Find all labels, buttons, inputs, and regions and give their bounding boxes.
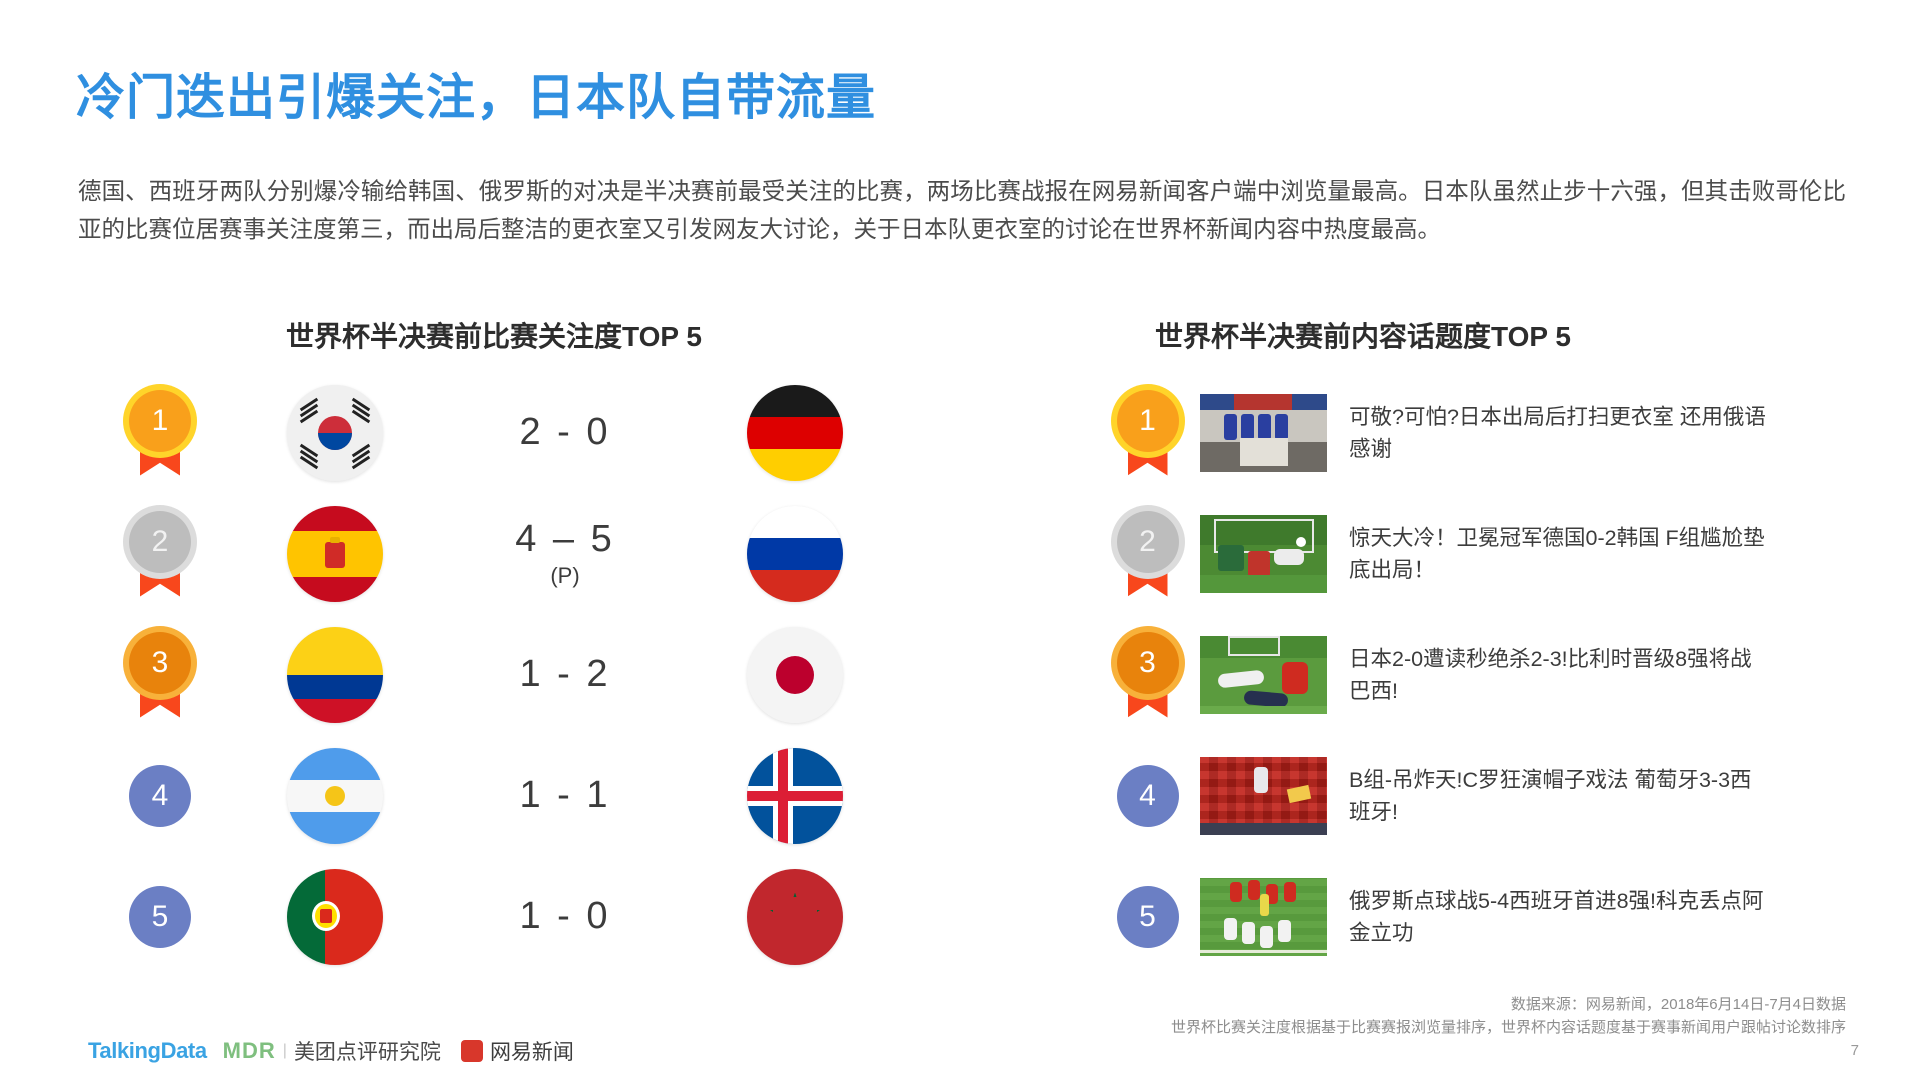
slide: 冷门迭出引爆关注，日本队自带流量 德国、西班牙两队分别爆冷输给韩国、俄罗斯的对决… xyxy=(0,0,1921,1080)
rank-cell: 4 xyxy=(1095,765,1200,827)
rank-cell: 5 xyxy=(100,886,220,948)
logo-divider: | xyxy=(283,1042,287,1060)
flag-germany-icon xyxy=(747,385,843,481)
rank-badge: 5 xyxy=(1117,886,1179,948)
news-headline[interactable]: B组-吊炸天!C罗狂演帽子戏法 葡萄牙3-3西班牙! xyxy=(1349,764,1769,828)
flag-cell-right xyxy=(680,506,910,602)
rank-number: 1 xyxy=(129,390,191,452)
rank-cell: 2 xyxy=(1095,511,1200,597)
rank-badge: 5 xyxy=(129,886,191,948)
score-cell: 4 – 5 (P) xyxy=(450,518,680,589)
flag-cell-right xyxy=(680,385,910,481)
flag-russia-icon xyxy=(747,506,843,602)
source-line-1: 数据来源：网易新闻，2018年6月14日-7月4日数据 xyxy=(1511,993,1846,1014)
flag-morocco-icon xyxy=(747,869,843,965)
rank-cell: 2 xyxy=(100,511,220,597)
rank-badge: 4 xyxy=(1117,765,1179,827)
score-cell: 2 - 0 xyxy=(450,411,680,454)
list-item[interactable]: 2 惊天大冷！卫冕冠军德国0-2韩国 F组尴尬垫底出局！ xyxy=(1095,493,1855,614)
rank-cell: 3 xyxy=(100,632,220,718)
news-headline[interactable]: 俄罗斯点球战5-4西班牙首进8强!科克丢点阿金立功 xyxy=(1349,885,1769,949)
rank-cell: 5 xyxy=(1095,886,1200,948)
score-value: 1 - 0 xyxy=(519,895,610,938)
rank-number: 3 xyxy=(1117,632,1179,694)
flag-argentina-icon xyxy=(287,748,383,844)
logo-netease-label: 网易新闻 xyxy=(490,1036,574,1066)
score-cell: 1 - 2 xyxy=(450,653,680,696)
flag-cell-left xyxy=(220,506,450,602)
table-row[interactable]: 4 1 - 1 xyxy=(100,735,920,856)
rank-number: 2 xyxy=(1117,511,1179,573)
flag-cell-right xyxy=(680,748,910,844)
logo-netease-news: 网易新闻 xyxy=(461,1036,574,1066)
rank-cell: 1 xyxy=(100,390,220,476)
rank-cell: 3 xyxy=(1095,632,1200,718)
page-number: 7 xyxy=(1851,1042,1859,1059)
logo-talkingdata: TalkingData xyxy=(88,1038,207,1064)
page-title: 冷门迭出引爆关注，日本队自带流量 xyxy=(76,58,876,129)
flag-colombia-icon xyxy=(287,627,383,723)
page-subtitle: 德国、西班牙两队分别爆冷输给韩国、俄罗斯的对决是半决赛前最受关注的比赛，两场比赛… xyxy=(78,172,1846,248)
flag-portugal-icon xyxy=(287,869,383,965)
flag-cell-left xyxy=(220,385,450,481)
list-item[interactable]: 4 B组-吊炸天!C罗狂演帽子戏法 葡萄牙3-3西班牙! xyxy=(1095,735,1855,856)
flag-cell-left xyxy=(220,869,450,965)
source-line-2: 世界杯比赛关注度根据基于比赛赛报浏览量排序，世界杯内容话题度基于赛事新闻用户跟帖… xyxy=(1171,1016,1846,1037)
medal-bronze-icon: 3 xyxy=(129,632,191,718)
score-value: 2 - 0 xyxy=(519,411,610,454)
rank-number: 1 xyxy=(1117,390,1179,452)
flag-cell-right xyxy=(680,869,910,965)
news-headline[interactable]: 惊天大冷！卫冕冠军德国0-2韩国 F组尴尬垫底出局！ xyxy=(1349,522,1769,586)
table-row[interactable]: 3 1 - 2 xyxy=(100,614,920,735)
rank-badge: 4 xyxy=(129,765,191,827)
rank-cell: 4 xyxy=(100,765,220,827)
netease-icon xyxy=(461,1040,483,1062)
news-thumbnail-red-crowd[interactable] xyxy=(1200,757,1327,835)
score-value: 1 - 1 xyxy=(519,774,610,817)
news-thumbnail-goal-save[interactable] xyxy=(1200,515,1327,593)
match-ranking-list: 1 xyxy=(100,372,920,977)
rank-number: 2 xyxy=(129,511,191,573)
flag-iceland-icon xyxy=(747,748,843,844)
medal-bronze-icon: 3 xyxy=(1117,632,1179,718)
news-thumbnail-celebration[interactable] xyxy=(1200,878,1327,956)
flag-cell-left xyxy=(220,748,450,844)
medal-silver-icon: 2 xyxy=(1117,511,1179,597)
logo-meituan-research: 美团点评研究院 xyxy=(294,1036,441,1066)
news-headline[interactable]: 日本2-0遭读秒绝杀2-3!比利时晋级8强将战巴西! xyxy=(1349,643,1769,707)
score-value: 4 – 5 xyxy=(515,518,615,561)
flag-spain-icon xyxy=(287,506,383,602)
score-cell: 1 - 0 xyxy=(450,895,680,938)
flag-cell-left xyxy=(220,627,450,723)
rank-number: 3 xyxy=(129,632,191,694)
left-section-heading: 世界杯半决赛前比赛关注度TOP 5 xyxy=(286,315,702,355)
rank-cell: 1 xyxy=(1095,390,1200,476)
right-section-heading: 世界杯半决赛前内容话题度TOP 5 xyxy=(1155,315,1571,355)
medal-silver-icon: 2 xyxy=(129,511,191,597)
list-item[interactable]: 5 俄罗斯点球战5-4西班牙首进8强!科克丢点阿金立功 xyxy=(1095,856,1855,977)
news-thumbnail-players-on-grass[interactable] xyxy=(1200,636,1327,714)
news-headline[interactable]: 可敬?可怕?日本出局后打扫更衣室 还用俄语感谢 xyxy=(1349,401,1769,465)
score-cell: 1 - 1 xyxy=(450,774,680,817)
list-item[interactable]: 3 日本2-0遭读秒绝杀2-3!比利时晋级8强将战巴西! xyxy=(1095,614,1855,735)
score-note: (P) xyxy=(550,563,579,589)
footer-logos: TalkingData MDR | 美团点评研究院 网易新闻 xyxy=(88,1036,574,1066)
flag-japan-icon xyxy=(747,627,843,723)
score-value: 1 - 2 xyxy=(519,653,610,696)
table-row[interactable]: 5 1 - 0 xyxy=(100,856,920,977)
medal-gold-icon: 1 xyxy=(129,390,191,476)
table-row[interactable]: 2 4 – 5 (P) xyxy=(100,493,920,614)
medal-gold-icon: 1 xyxy=(1117,390,1179,476)
news-thumbnail-locker-room[interactable] xyxy=(1200,394,1327,472)
flag-south-korea-icon xyxy=(287,385,383,481)
news-ranking-list: 1 可敬?可怕?日本出局后打扫更衣室 还用俄语感谢 2 xyxy=(1095,372,1855,977)
table-row[interactable]: 1 xyxy=(100,372,920,493)
list-item[interactable]: 1 可敬?可怕?日本出局后打扫更衣室 还用俄语感谢 xyxy=(1095,372,1855,493)
flag-cell-right xyxy=(680,627,910,723)
logo-mdr: MDR xyxy=(223,1038,276,1064)
